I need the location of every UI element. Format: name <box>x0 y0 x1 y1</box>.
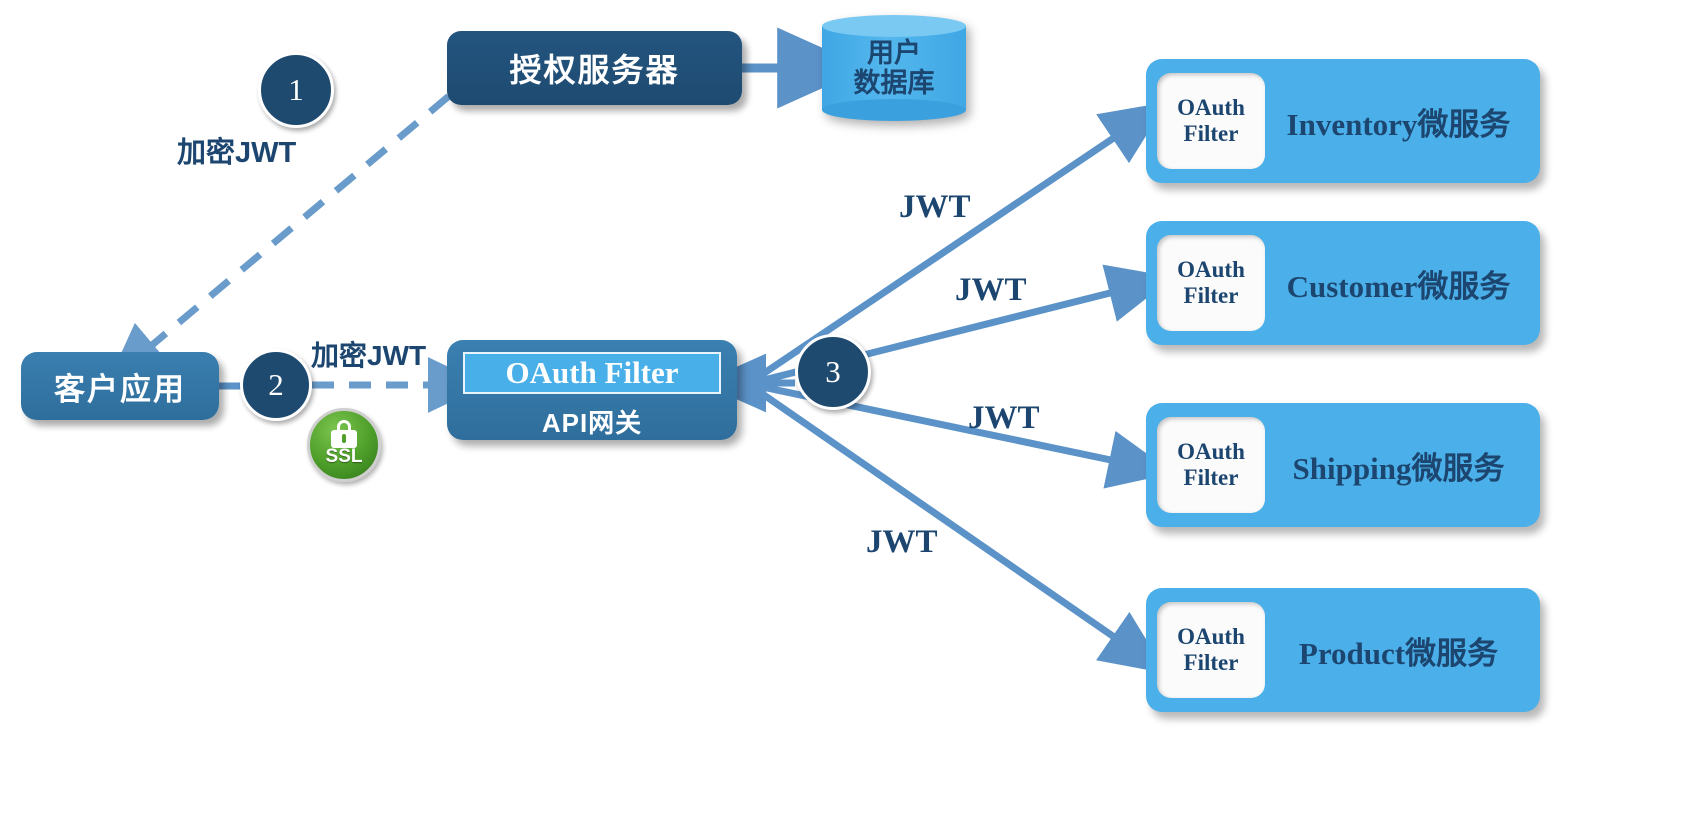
step-badge-1-number: 1 <box>288 72 304 108</box>
user-database-label: 用户 数据库 <box>822 15 966 121</box>
diagram-canvas: 授权服务器 用户 数据库 客户应用 OAuth Filter API网关 OAu… <box>0 0 1698 816</box>
client-app-label: 客户应用 <box>54 364 186 409</box>
customer-oauth-filter-line1: OAuth <box>1177 257 1245 283</box>
user-database-label-line1: 用户 <box>867 38 921 68</box>
user-database-label-line2: 数据库 <box>854 68 935 98</box>
step-badge-1[interactable]: 1 <box>258 52 334 128</box>
api-gateway-label: API网关 <box>542 403 642 440</box>
shipping-oauth-filter-line1: OAuth <box>1177 439 1245 465</box>
microservice-customer[interactable]: OAuth Filter Customer微服务 <box>1146 221 1540 345</box>
label-jwt-product: JWT <box>866 524 938 561</box>
ssl-badge[interactable]: SSL <box>307 408 381 482</box>
microservice-shipping[interactable]: OAuth Filter Shipping微服务 <box>1146 403 1540 527</box>
shipping-service-label: Shipping微服务 <box>1265 443 1540 488</box>
auth-server-label: 授权服务器 <box>509 45 679 91</box>
inventory-oauth-filter-line1: OAuth <box>1177 95 1245 121</box>
microservice-product[interactable]: OAuth Filter Product微服务 <box>1146 588 1540 712</box>
gateway-oauth-filter-label: OAuth Filter <box>505 355 678 391</box>
client-app-box[interactable]: 客户应用 <box>21 352 219 420</box>
step-badge-2-number: 2 <box>268 367 284 403</box>
label-step1-payload: 加密JWT <box>177 129 296 171</box>
label-jwt-inventory: JWT <box>899 189 971 226</box>
customer-oauth-filter-box[interactable]: OAuth Filter <box>1157 235 1265 331</box>
product-oauth-filter-line2: Filter <box>1184 650 1239 676</box>
product-oauth-filter-line1: OAuth <box>1177 624 1245 650</box>
inventory-oauth-filter-box[interactable]: OAuth Filter <box>1157 73 1265 169</box>
gateway-oauth-filter-box[interactable]: OAuth Filter <box>463 352 721 394</box>
label-step2-payload: 加密JWT <box>311 334 426 374</box>
product-oauth-filter-box[interactable]: OAuth Filter <box>1157 602 1265 698</box>
user-database-cylinder[interactable]: 用户 数据库 <box>822 15 966 121</box>
step-badge-3[interactable]: 3 <box>795 334 871 410</box>
step-badge-2[interactable]: 2 <box>240 349 312 421</box>
inventory-service-label: Inventory微服务 <box>1265 99 1540 144</box>
padlock-icon <box>331 420 357 448</box>
api-gateway-box[interactable]: OAuth Filter API网关 <box>447 340 737 440</box>
step-badge-3-number: 3 <box>825 354 841 390</box>
customer-oauth-filter-line2: Filter <box>1184 283 1239 309</box>
label-jwt-shipping: JWT <box>968 400 1040 437</box>
shipping-oauth-filter-box[interactable]: OAuth Filter <box>1157 417 1265 513</box>
label-jwt-customer: JWT <box>955 272 1027 309</box>
inventory-oauth-filter-line2: Filter <box>1184 121 1239 147</box>
customer-service-label: Customer微服务 <box>1265 261 1540 306</box>
ssl-badge-label: SSL <box>326 447 363 466</box>
product-service-label: Product微服务 <box>1265 628 1540 673</box>
microservice-inventory[interactable]: OAuth Filter Inventory微服务 <box>1146 59 1540 183</box>
arrow-gateway-to-product <box>748 384 1130 648</box>
shipping-oauth-filter-line2: Filter <box>1184 465 1239 491</box>
auth-server-box[interactable]: 授权服务器 <box>447 31 742 105</box>
